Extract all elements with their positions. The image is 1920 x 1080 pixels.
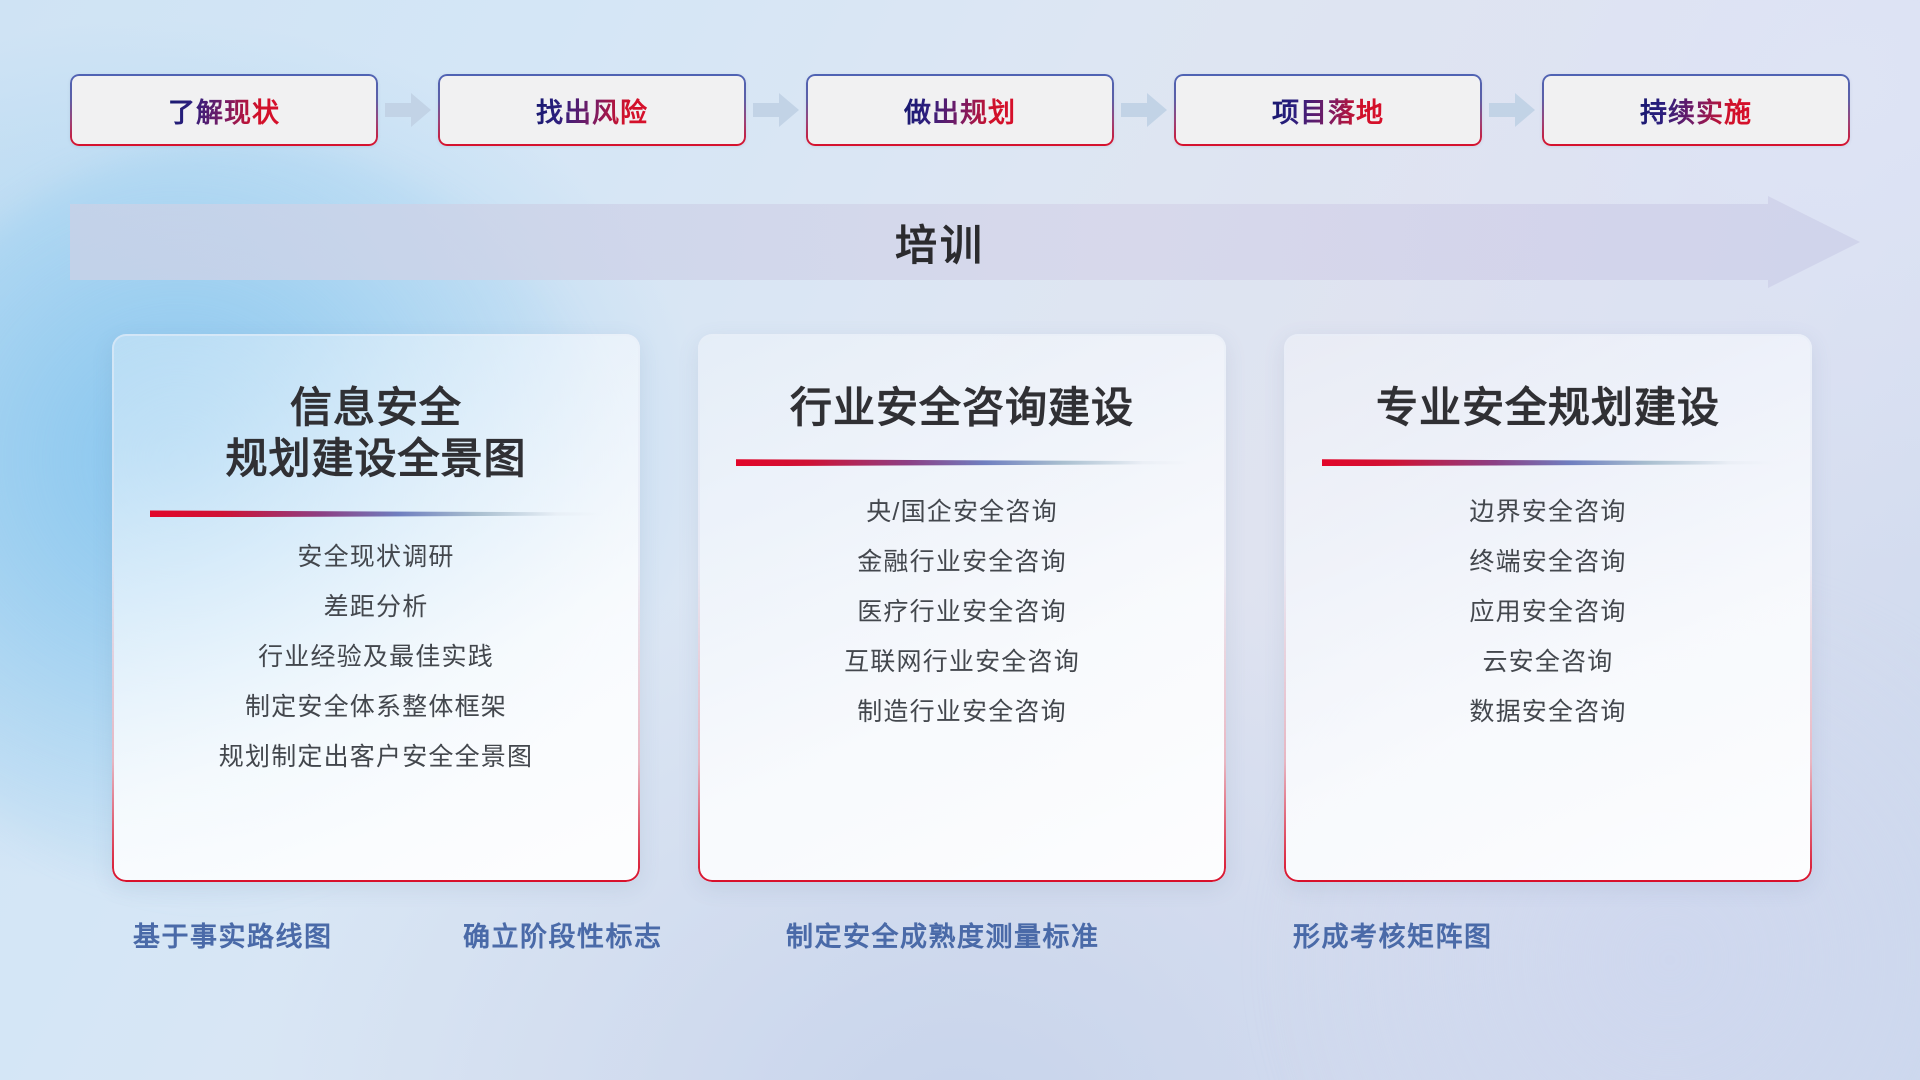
card-item-list: 央/国企安全咨询 金融行业安全咨询 医疗行业安全咨询 互联网行业安全咨询 制造行… bbox=[698, 500, 1226, 725]
card-item-list: 边界安全咨询 终端安全咨询 应用安全咨询 云安全咨询 数据安全咨询 bbox=[1284, 500, 1812, 725]
list-item: 金融行业安全咨询 bbox=[698, 550, 1226, 575]
process-step-label: 了解现状 bbox=[168, 91, 280, 130]
process-step-5[interactable]: 持续实施 bbox=[1542, 74, 1850, 146]
process-step-3[interactable]: 做出规划 bbox=[806, 74, 1114, 146]
right-arrow-icon bbox=[378, 90, 438, 130]
bottom-label: 形成考核矩阵图 bbox=[1293, 915, 1493, 954]
process-step-1[interactable]: 了解现状 bbox=[70, 74, 378, 146]
list-item: 制定安全体系整体框架 bbox=[112, 695, 640, 720]
card-divider bbox=[150, 510, 602, 517]
process-step-label: 项目落地 bbox=[1272, 91, 1384, 130]
process-step-label: 持续实施 bbox=[1640, 91, 1752, 130]
banner-title: 培训 bbox=[70, 196, 1860, 288]
list-item: 云安全咨询 bbox=[1284, 650, 1812, 675]
list-item: 央/国企安全咨询 bbox=[698, 500, 1226, 525]
card-divider bbox=[1322, 459, 1774, 466]
card-item-list: 安全现状调研 差距分析 行业经验及最佳实践 制定安全体系整体框架 规划制定出客户… bbox=[112, 545, 640, 770]
card-title-line: 专业安全规划建设 bbox=[1376, 382, 1720, 433]
list-item: 安全现状调研 bbox=[112, 545, 640, 570]
card-industry-security-consulting[interactable]: 行业安全咨询建设 央/国企安全咨询 金融行业安全咨询 医疗行业安全咨询 互联网行… bbox=[698, 334, 1226, 882]
right-arrow-icon bbox=[746, 90, 806, 130]
right-arrow-icon bbox=[1114, 90, 1174, 130]
list-item: 制造行业安全咨询 bbox=[698, 700, 1226, 725]
card-title-line: 信息安全 bbox=[225, 382, 526, 433]
list-item: 医疗行业安全咨询 bbox=[698, 600, 1226, 625]
process-step-row: 了解现状 找出风险 做出规划 项目落地 bbox=[70, 74, 1850, 146]
training-banner: 培训 bbox=[70, 196, 1860, 288]
process-step-4[interactable]: 项目落地 bbox=[1174, 74, 1482, 146]
right-arrow-icon bbox=[1482, 90, 1542, 130]
slide-canvas: 了解现状 找出风险 做出规划 项目落地 bbox=[0, 0, 1920, 1080]
card-title: 行业安全咨询建设 bbox=[770, 382, 1154, 433]
list-item: 互联网行业安全咨询 bbox=[698, 650, 1226, 675]
bottom-label-row: 基于事实路线图 确立阶段性标志 制定安全成熟度测量标准 形成考核矩阵图 bbox=[0, 915, 1920, 961]
list-item: 规划制定出客户安全全景图 bbox=[112, 745, 640, 770]
process-step-label: 做出规划 bbox=[904, 91, 1016, 130]
bottom-label: 制定安全成熟度测量标准 bbox=[786, 915, 1100, 954]
bottom-label: 基于事实路线图 bbox=[133, 915, 333, 954]
process-step-label: 找出风险 bbox=[536, 91, 648, 130]
card-information-security-panorama[interactable]: 信息安全 规划建设全景图 安全现状调研 差距分析 行业经验及最佳实践 制定安全体… bbox=[112, 334, 640, 882]
list-item: 差距分析 bbox=[112, 595, 640, 620]
process-step-2[interactable]: 找出风险 bbox=[438, 74, 746, 146]
card-title: 专业安全规划建设 bbox=[1356, 382, 1740, 433]
card-professional-security-planning[interactable]: 专业安全规划建设 边界安全咨询 终端安全咨询 应用安全咨询 云安全咨询 数据安全… bbox=[1284, 334, 1812, 882]
list-item: 应用安全咨询 bbox=[1284, 600, 1812, 625]
card-row: 信息安全 规划建设全景图 安全现状调研 差距分析 行业经验及最佳实践 制定安全体… bbox=[112, 334, 1812, 882]
list-item: 边界安全咨询 bbox=[1284, 500, 1812, 525]
bottom-label: 确立阶段性标志 bbox=[463, 915, 663, 954]
card-title-line: 规划建设全景图 bbox=[225, 433, 526, 484]
list-item: 数据安全咨询 bbox=[1284, 700, 1812, 725]
list-item: 行业经验及最佳实践 bbox=[112, 645, 640, 670]
card-divider bbox=[736, 459, 1188, 466]
list-item: 终端安全咨询 bbox=[1284, 550, 1812, 575]
card-title: 信息安全 规划建设全景图 bbox=[205, 382, 546, 484]
card-title-line: 行业安全咨询建设 bbox=[790, 382, 1134, 433]
